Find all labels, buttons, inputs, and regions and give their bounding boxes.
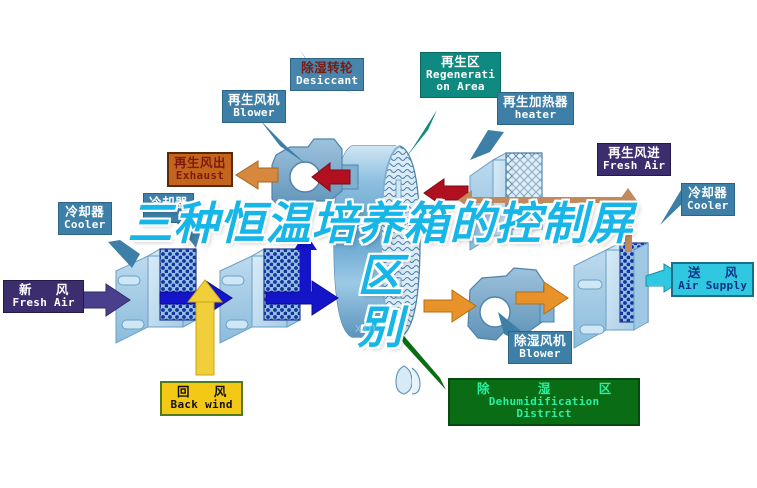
label-fresh-air-en: Fresh Air [9,297,78,309]
label-cooler-left-2[interactable]: 冷却器 [143,193,194,223]
label-cooler-right[interactable]: 冷却器 Cooler [681,183,735,216]
label-back-wind-cn: 回 风 [167,385,236,399]
label-cooler-right-cn: 冷却器 [687,186,729,200]
label-dehum-blower-en: Blower [514,348,566,360]
label-fresh-air-cn: 新 风 [9,283,78,297]
schematic-illustration [0,0,757,488]
label-dehumidification-district[interactable]: 除 湿 区 Dehumidification District [448,378,640,426]
label-exhaust[interactable]: 再生风出 Exhaust [167,152,233,187]
label-desiccant[interactable]: 除湿转轮 Desiccant [290,58,364,91]
label-air-supply[interactable]: 送 风 Air Supply [671,262,754,297]
label-desiccant-en: Desiccant [296,75,358,87]
label-regen-heater[interactable]: 再生加热器 heater [497,92,574,125]
label-regen-fresh-air-cn: 再生风进 [603,146,665,160]
label-regen-fresh-air[interactable]: 再生风进 Fresh Air [597,143,671,176]
label-fresh-air[interactable]: 新 风 Fresh Air [3,280,84,313]
label-regen-blower[interactable]: 再生风机 Blower [222,90,286,123]
label-cooler-left-1[interactable]: 冷却器 Cooler [58,202,112,235]
cooler-coil-3 [574,243,648,348]
label-regen-heater-cn: 再生加热器 [503,95,568,109]
label-air-supply-cn: 送 风 [678,266,747,280]
label-back-wind-en: Back wind [167,399,236,411]
label-dehum-blower[interactable]: 除湿风机 Blower [508,331,572,364]
label-regen-blower-cn: 再生风机 [228,93,280,107]
label-exhaust-cn: 再生风出 [174,156,226,170]
label-exhaust-en: Exhaust [174,170,226,182]
label-cooler-left-1-en: Cooler [64,219,106,231]
label-regen-fresh-air-en: Fresh Air [603,160,665,172]
label-cooler-right-en: Cooler [687,200,729,212]
label-desiccant-cn: 除湿转轮 [296,61,358,75]
diagram-canvas: 再生风机 Blower 除湿转轮 Desiccant 再生区 Regenerat… [0,0,757,488]
arrow-regen-from-heater [424,179,468,207]
label-air-supply-en: Air Supply [678,280,747,292]
label-regeneration-area-en2: on Area [426,81,495,93]
label-regen-blower-en: Blower [228,107,280,119]
label-regeneration-area[interactable]: 再生区 Regenerati on Area [420,52,501,98]
label-dehum-district-cn: 除 湿 区 [455,382,633,396]
label-cooler-left-1-cn: 冷却器 [64,205,106,219]
label-regeneration-area-cn: 再生区 [426,55,495,69]
label-dehum-blower-cn: 除湿风机 [514,334,566,348]
label-back-wind[interactable]: 回 风 Back wind [160,381,243,416]
label-regen-heater-en: heater [503,109,568,121]
label-dehum-district-en2: District [455,408,633,420]
label-cooler-left-2-cn: 冷却器 [149,196,188,210]
